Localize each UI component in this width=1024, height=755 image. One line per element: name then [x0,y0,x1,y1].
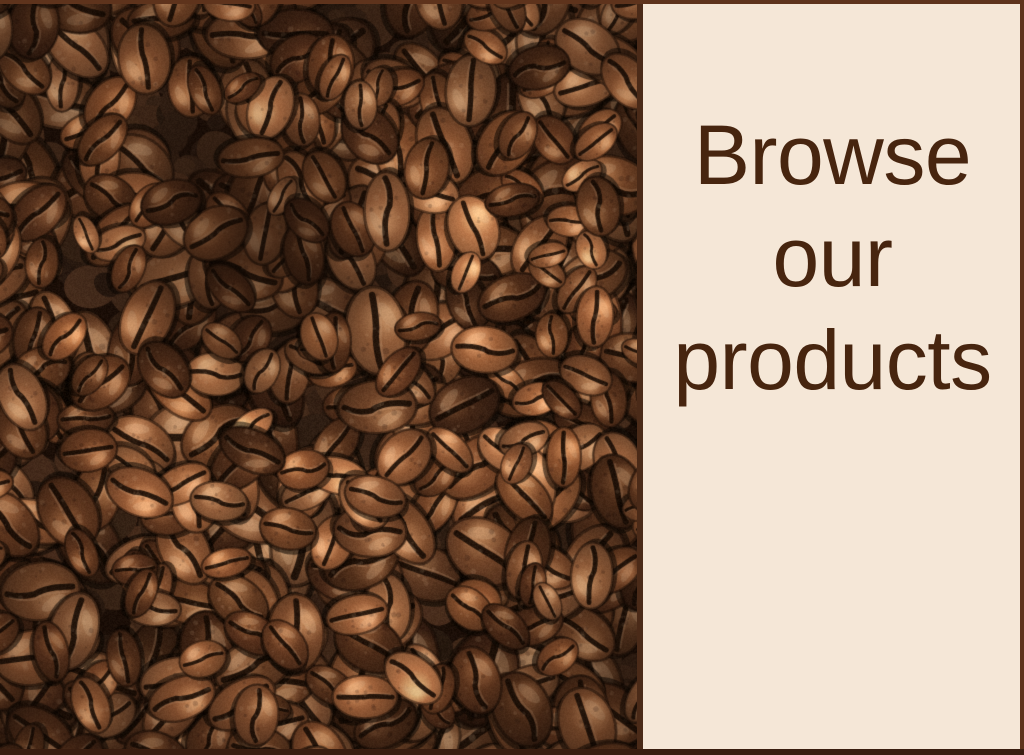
coffee-beans-photo-panel [0,0,641,750]
frame-border-bottom [0,749,1024,755]
headline-panel: Browse our products [641,0,1024,755]
page-title: Browse our products [641,104,1024,411]
headline-line-1: Browse [641,104,1024,206]
panel-divider [637,0,643,755]
coffee-beans-image [0,0,641,750]
frame-border-right [1020,0,1024,755]
frame-border-top [0,0,1024,4]
headline-line-3: products [641,309,1024,411]
headline-line-2: our [641,206,1024,308]
slide-root: Browse our products [0,0,1024,755]
